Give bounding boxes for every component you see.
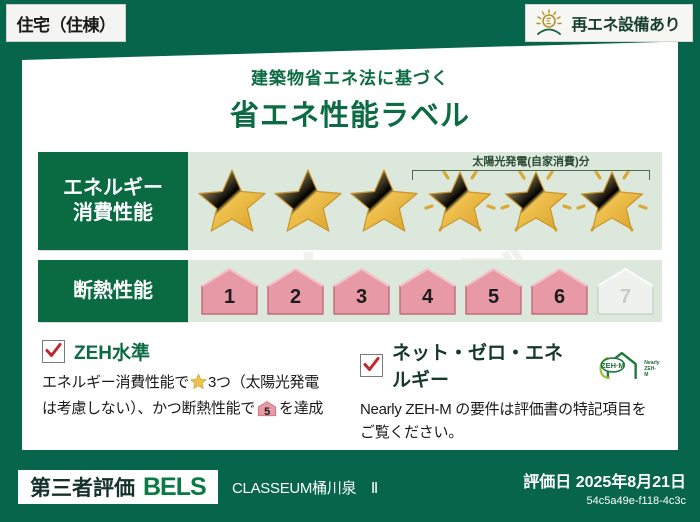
footer-bar: 第三者評価 BELS CLASSEUM桶川泉 Ⅱ 評価日 2025年8月21日 … bbox=[0, 460, 700, 522]
zeh-standard-title: ZEH水準 bbox=[74, 338, 150, 365]
net-zero-header: ネット・ゼロ・エネルギー ZEH·M Nearly ZEH-M bbox=[360, 338, 660, 392]
insulation-level-6: 6 bbox=[528, 266, 591, 316]
renewable-badge-text: 再エネ設備あり bbox=[571, 11, 680, 35]
insulation-level-6-number: 6 bbox=[528, 286, 591, 309]
net-zero-description: Nearly ZEH-M の要件は評価書の特記項目をご覧ください。 bbox=[360, 399, 660, 444]
title-sub: 建築物省エネ法に基づく bbox=[22, 64, 678, 89]
insulation-level-2: 2 bbox=[264, 266, 327, 316]
inline-house-icon: 5 bbox=[257, 400, 277, 425]
zeh-desc-part2: は考慮しない）、かつ断熱性能で bbox=[42, 400, 255, 417]
insulation-level-2-number: 2 bbox=[264, 286, 327, 309]
energy-label-line2: 消費性能 bbox=[73, 201, 153, 226]
zeh-standard-block: ZEH水準 エネルギー消費性能で3つ（太陽光発電は考慮しない）、かつ断熱性能で5… bbox=[42, 338, 342, 438]
insulation-level-4: 4 bbox=[396, 266, 459, 316]
page-title: 建築物省エネ法に基づく 省エネ性能ラベル bbox=[22, 64, 678, 134]
insulation-level-list: 1 2 bbox=[188, 266, 657, 316]
star-2 bbox=[270, 155, 346, 247]
zeh-desc-part1: エネルギー消費性能で bbox=[42, 374, 189, 391]
bels-energy-label: 住宅（住棟） bbox=[0, 0, 700, 522]
zeh-m-house-icon: ZEH·M bbox=[596, 349, 644, 382]
energy-performance-label: エネルギー 消費性能 bbox=[38, 152, 188, 250]
svg-text:ZEH·M: ZEH·M bbox=[601, 360, 625, 369]
insulation-level-5-number: 5 bbox=[462, 286, 525, 309]
evaluation-date: 評価日 2025年8月21日 bbox=[523, 468, 686, 492]
third-party-eval-text: 第三者評価 bbox=[30, 472, 135, 502]
zeh-desc-star-text: 3つ（太陽光発電 bbox=[208, 374, 319, 391]
solar-annotation: 太陽光発電(自家消費)分 bbox=[406, 153, 656, 180]
net-zero-checkbox[interactable] bbox=[360, 354, 383, 377]
bels-certification-box: 第三者評価 BELS bbox=[18, 470, 218, 504]
insulation-label-text: 断熱性能 bbox=[73, 279, 153, 304]
insulation-level-7: 7 bbox=[594, 266, 657, 316]
zeh-m-logo-sub: Nearly ZEH-M bbox=[644, 361, 660, 381]
energy-performance-row: エネルギー 消費性能 太陽光発電(自家消費)分 bbox=[38, 152, 662, 250]
inline-house-number: 5 bbox=[257, 404, 277, 421]
zeh-m-sub-line2: ZEH-M bbox=[644, 366, 656, 378]
evaluation-info: 評価日 2025年8月21日 54c5a49e-f118-4c3c bbox=[523, 468, 686, 507]
renewable-equipment-badge: 再エネ設備あり bbox=[525, 4, 693, 42]
zeh-standard-checkbox[interactable] bbox=[42, 340, 65, 363]
bels-logo-text: BELS bbox=[143, 473, 206, 502]
insulation-level-7-number: 7 bbox=[594, 286, 657, 309]
zeh-standard-header: ZEH水準 bbox=[42, 338, 342, 365]
sun-icon bbox=[534, 9, 564, 37]
net-zero-energy-block: ネット・ゼロ・エネルギー ZEH·M Nearly ZEH-M bbox=[360, 338, 660, 438]
zeh-desc-part3: を達成 bbox=[279, 400, 323, 417]
insulation-level-3-number: 3 bbox=[330, 286, 393, 309]
insulation-level-5: 5 bbox=[462, 266, 525, 316]
net-zero-title: ネット・ゼロ・エネルギー bbox=[392, 338, 581, 392]
building-name: CLASSEUM桶川泉 Ⅱ bbox=[232, 477, 378, 498]
title-main: 省エネ性能ラベル bbox=[22, 92, 678, 134]
energy-performance-stars-area: 太陽光発電(自家消費)分 bbox=[188, 152, 662, 250]
label-panel: ハウスデ 建築物省エネ法に基づく 省エネ性能ラベル エネルギー 消費性能 太陽光… bbox=[22, 42, 678, 450]
zeh-m-logo: ZEH·M Nearly ZEH-M bbox=[596, 349, 660, 382]
insulation-performance-label: 断熱性能 bbox=[38, 260, 188, 322]
criteria-columns: ZEH水準 エネルギー消費性能で3つ（太陽光発電は考慮しない）、かつ断熱性能で5… bbox=[42, 338, 660, 438]
evaluation-id: 54c5a49e-f118-4c3c bbox=[523, 495, 686, 507]
insulation-level-1-number: 1 bbox=[198, 286, 261, 309]
building-type-text: 住宅（住棟） bbox=[17, 11, 116, 36]
zeh-standard-description: エネルギー消費性能で3つ（太陽光発電は考慮しない）、かつ断熱性能で5を達成 bbox=[42, 372, 342, 424]
check-icon bbox=[44, 341, 63, 360]
insulation-level-3: 3 bbox=[330, 266, 393, 316]
insulation-level-1: 1 bbox=[198, 266, 261, 316]
check-icon bbox=[362, 355, 381, 374]
solar-annotation-text: 太陽光発電(自家消費)分 bbox=[406, 153, 656, 169]
insulation-levels-area: 1 2 bbox=[188, 260, 662, 322]
solar-bracket bbox=[412, 170, 650, 180]
top-strip: 住宅（住棟） bbox=[0, 0, 700, 48]
star-1 bbox=[194, 155, 270, 247]
energy-label-line1: エネルギー bbox=[63, 176, 163, 201]
building-type-badge: 住宅（住棟） bbox=[6, 4, 126, 42]
inline-star-icon bbox=[190, 373, 207, 398]
insulation-level-4-number: 4 bbox=[396, 286, 459, 309]
insulation-performance-row: 断熱性能 1 bbox=[38, 260, 662, 322]
